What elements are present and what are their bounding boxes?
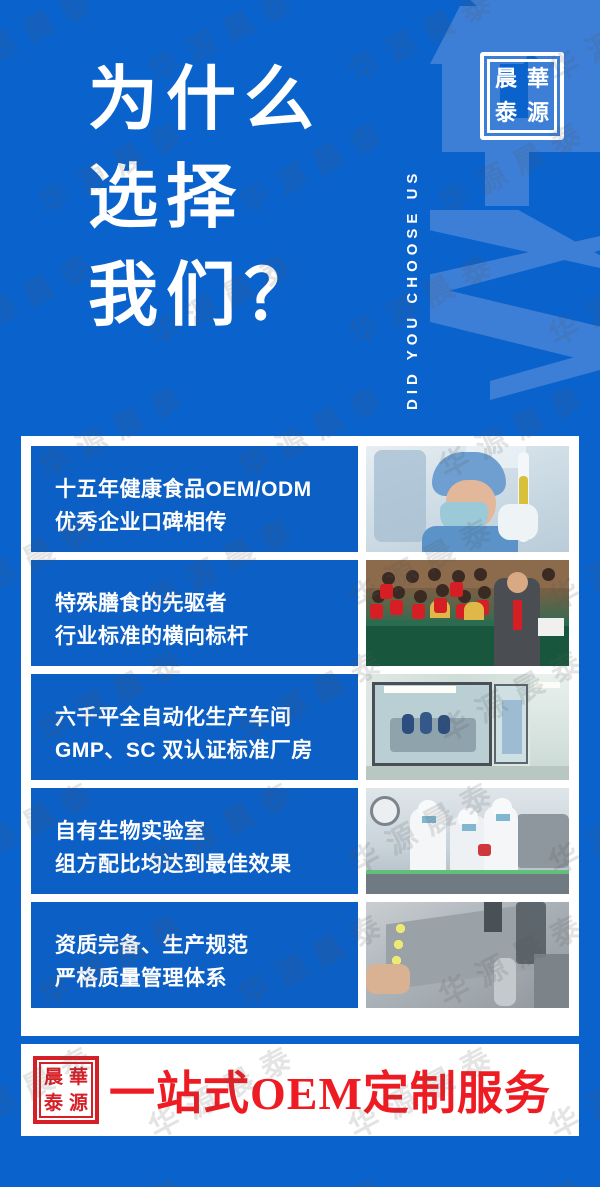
hero-section: 为什么 选择 我们？ DID YOU CHOOSE US 晨 華 泰 源 [0,0,600,436]
blister-tablets-machine-photo [366,902,569,1008]
feature-card[interactable]: 资质完备、生产规范 严格质量管理体系 [31,902,358,1008]
lab-technician-photo [366,446,569,552]
seal-char-3: 泰 [490,96,522,130]
list-item[interactable]: 特殊膳食的先驱者 行业标准的横向标杆 [31,560,569,666]
feature-line-2: GMP、SC 双认证标准厂房 [55,734,358,767]
footer-slogan: 一站式OEM定制服务 [109,1057,551,1123]
seal-char-4: 源 [66,1090,91,1116]
feature-line-1: 十五年健康食品OEM/ODM [55,473,358,506]
feature-card[interactable]: 自有生物实验室 组方配比均达到最佳效果 [31,788,358,894]
list-item[interactable]: 六千平全自动化生产车间 GMP、SC 双认证标准厂房 [31,674,569,780]
brand-seal-red: 晨 華 泰 源 [33,1056,99,1124]
feature-line-2: 行业标准的横向标杆 [55,620,358,653]
title-line-2: 选择 [88,150,388,248]
title-line-3: 我们？ [88,248,388,346]
list-item[interactable]: 自有生物实验室 组方配比均达到最佳效果 [31,788,569,894]
feature-line-2: 优秀企业口碑相传 [55,506,358,539]
watermark-text: 华源晨泰 [430,1161,599,1187]
seal-char-2: 華 [66,1064,91,1090]
feature-line-1: 六千平全自动化生产车间 [55,701,358,734]
vertical-english-tagline: DID YOU CHOOSE US [404,10,430,410]
packaging-line-workers-photo [366,788,569,894]
page-title: 为什么 选择 我们？ [88,52,388,346]
title-line-1: 为什么 [88,52,388,150]
brand-seal-white: 晨 華 泰 源 [480,52,564,140]
feature-line-1: 特殊膳食的先驱者 [55,587,358,620]
feature-card[interactable]: 十五年健康食品OEM/ODM 优秀企业口碑相传 [31,446,358,552]
feature-list: 十五年健康食品OEM/ODM 优秀企业口碑相传 特殊膳食的先驱者 行业标准的横向… [31,446,569,1026]
list-item[interactable]: 十五年健康食品OEM/ODM 优秀企业口碑相传 [31,446,569,552]
watermark-text: 华源晨泰 [230,1161,399,1187]
feature-card[interactable]: 特殊膳食的先驱者 行业标准的横向标杆 [31,560,358,666]
seal-char-4: 源 [522,96,554,130]
conference-audience-photo [366,560,569,666]
seal-char-3: 泰 [41,1090,66,1116]
footer-banner: 晨 華 泰 源 一站式OEM定制服务 [21,1044,579,1136]
seal-char-1: 晨 [490,62,522,96]
seal-char-1: 晨 [41,1064,66,1090]
list-item[interactable]: 资质完备、生产规范 严格质量管理体系 [31,902,569,1008]
poster-canvas: 为什么 选择 我们？ DID YOU CHOOSE US 晨 華 泰 源 十五年… [0,0,600,1187]
feature-card[interactable]: 六千平全自动化生产车间 GMP、SC 双认证标准厂房 [31,674,358,780]
feature-line-1: 自有生物实验室 [55,815,358,848]
seal-char-2: 華 [522,62,554,96]
clean-room-corridor-photo [366,674,569,780]
feature-line-2: 组方配比均达到最佳效果 [55,848,358,881]
feature-line-1: 资质完备、生产规范 [55,929,358,962]
watermark-text: 华源晨泰 [30,1161,199,1187]
feature-line-2: 严格质量管理体系 [55,962,358,995]
